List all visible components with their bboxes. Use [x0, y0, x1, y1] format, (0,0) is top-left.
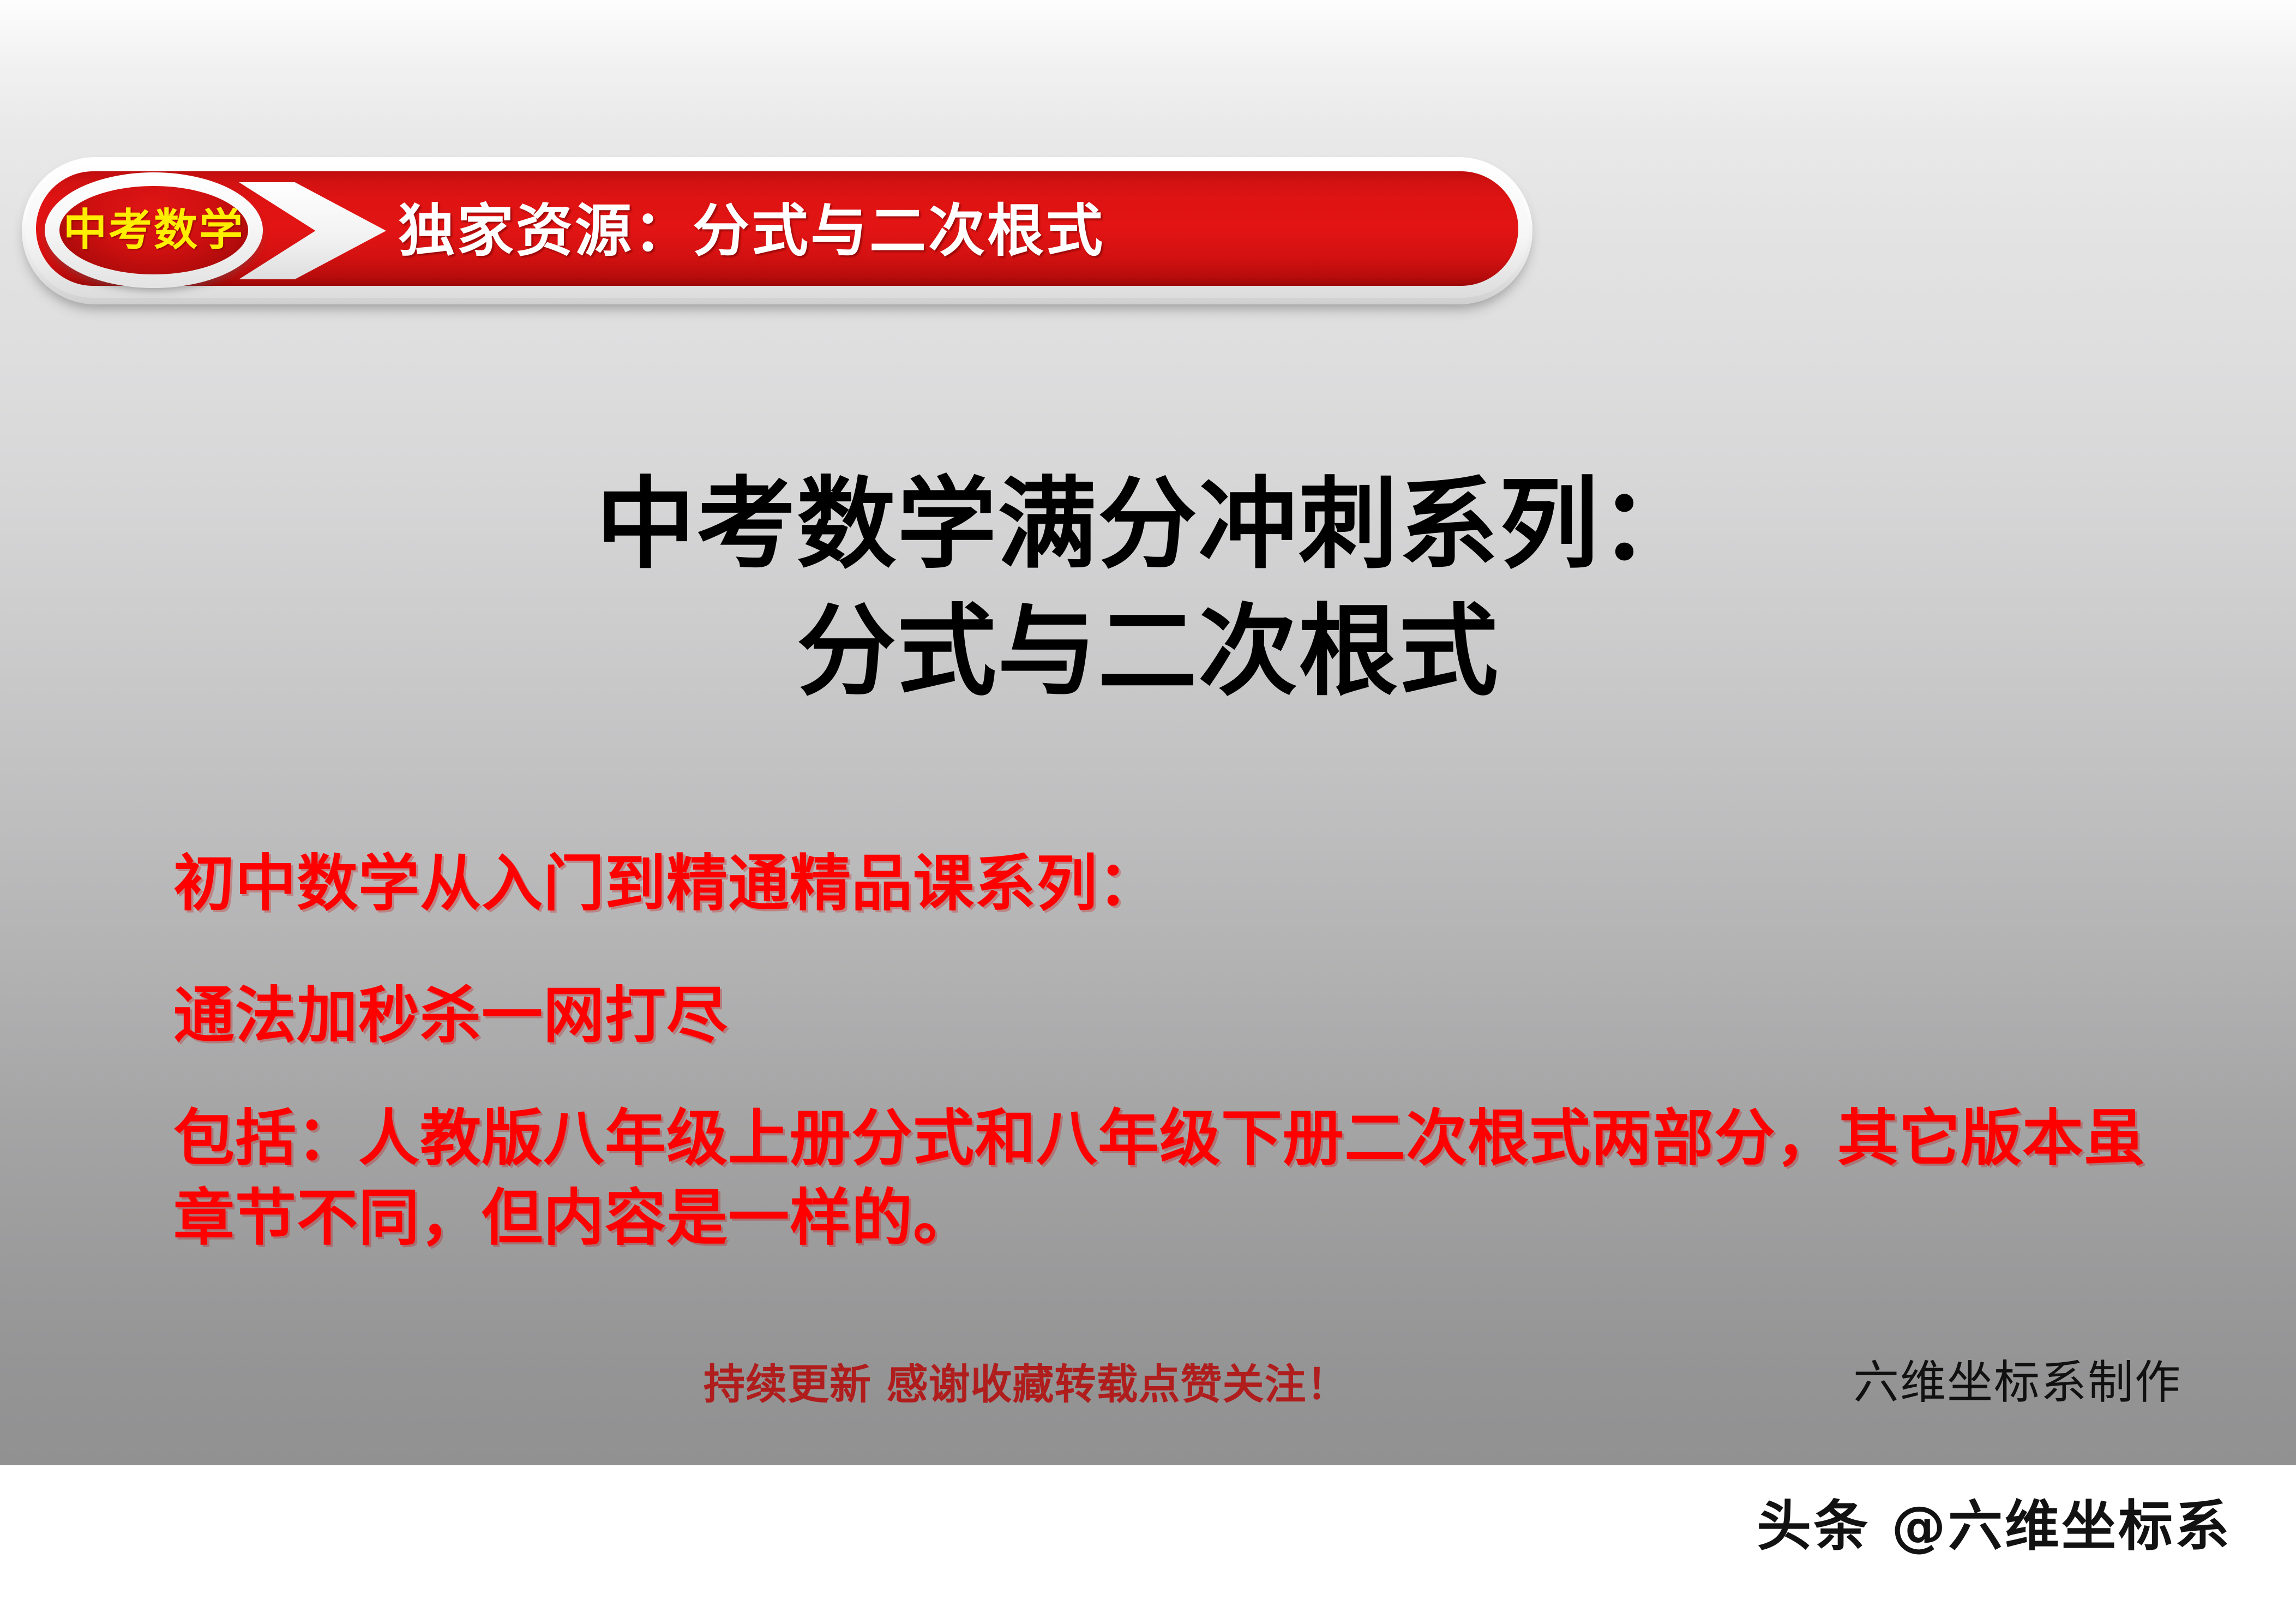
- header-banner: 中考数学 独家资源：分式与二次根式: [22, 157, 1532, 304]
- body-line-method: 通法加秒杀一网打尽: [173, 976, 728, 1056]
- footer-note: 持续更新 感谢收藏转载点赞关注！: [704, 1364, 1348, 1405]
- slide-canvas: 中考数学 独家资源：分式与二次根式 中考数学满分冲刺系列： 分式与二次根式 初中…: [0, 0, 2296, 1465]
- subject-badge-fill: 中考数学: [59, 186, 248, 274]
- page-title-line-1: 中考数学满分冲刺系列：: [0, 461, 2296, 588]
- watermark: 头条 @六维坐标系: [1757, 1499, 2232, 1554]
- banner-title: 独家资源：分式与二次根式: [398, 202, 1105, 259]
- author-credit: 六维坐标系制作: [1853, 1359, 2181, 1405]
- page-title-line-2: 分式与二次根式: [0, 588, 2296, 715]
- body-line-series: 初中数学从入门到精通精品课系列：: [173, 844, 1159, 924]
- page-title: 中考数学满分冲刺系列： 分式与二次根式: [0, 461, 2296, 715]
- body-line-scope: 包括：人教版八年级上册分式和八年级下册二次根式两部分，其它版本虽章节不同，但内容…: [173, 1099, 2148, 1258]
- subject-badge-label: 中考数学: [63, 208, 244, 252]
- subject-badge: 中考数学: [45, 172, 263, 288]
